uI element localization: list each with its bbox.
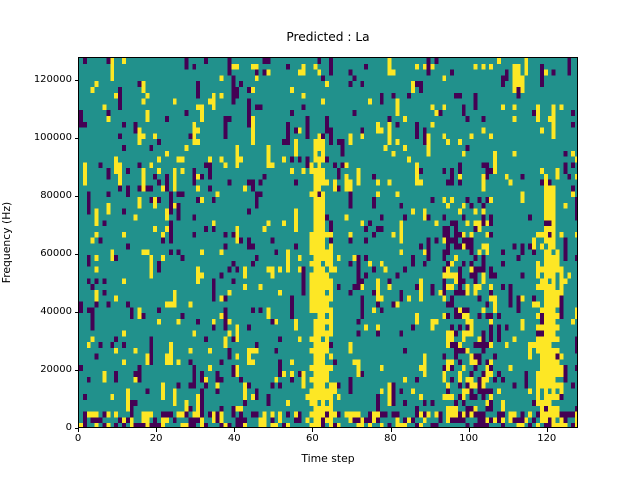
x-tick-label: 40	[204, 433, 264, 444]
matplotlib-figure: Predicted : La 020406080100120 020000400…	[0, 0, 640, 480]
x-tick-mark	[547, 428, 548, 432]
x-tick-label: 60	[282, 433, 342, 444]
x-tick-mark	[469, 428, 470, 432]
y-tick-mark	[75, 196, 79, 197]
x-tick-label: 100	[439, 433, 499, 444]
y-tick-mark	[75, 138, 79, 139]
x-tick-label: 0	[48, 433, 108, 444]
spectrogram-heatmap	[79, 58, 578, 428]
x-tick-mark	[78, 428, 79, 432]
heatmap-axes	[78, 57, 578, 428]
y-axis-label: Frequency (Hz)	[0, 57, 14, 428]
x-tick-label: 80	[361, 433, 421, 444]
y-tick-mark	[75, 254, 79, 255]
y-tick-mark	[75, 80, 79, 81]
y-tick-mark	[75, 370, 79, 371]
x-tick-mark	[391, 428, 392, 432]
x-tick-label: 20	[126, 433, 186, 444]
page-title: Predicted : La	[78, 30, 578, 45]
y-tick-mark	[75, 312, 79, 313]
x-tick-mark	[234, 428, 235, 432]
x-axis-label: Time step	[78, 452, 578, 465]
x-tick-label: 120	[517, 433, 577, 444]
x-tick-mark	[312, 428, 313, 432]
y-tick-mark	[75, 428, 79, 429]
x-tick-mark	[156, 428, 157, 432]
